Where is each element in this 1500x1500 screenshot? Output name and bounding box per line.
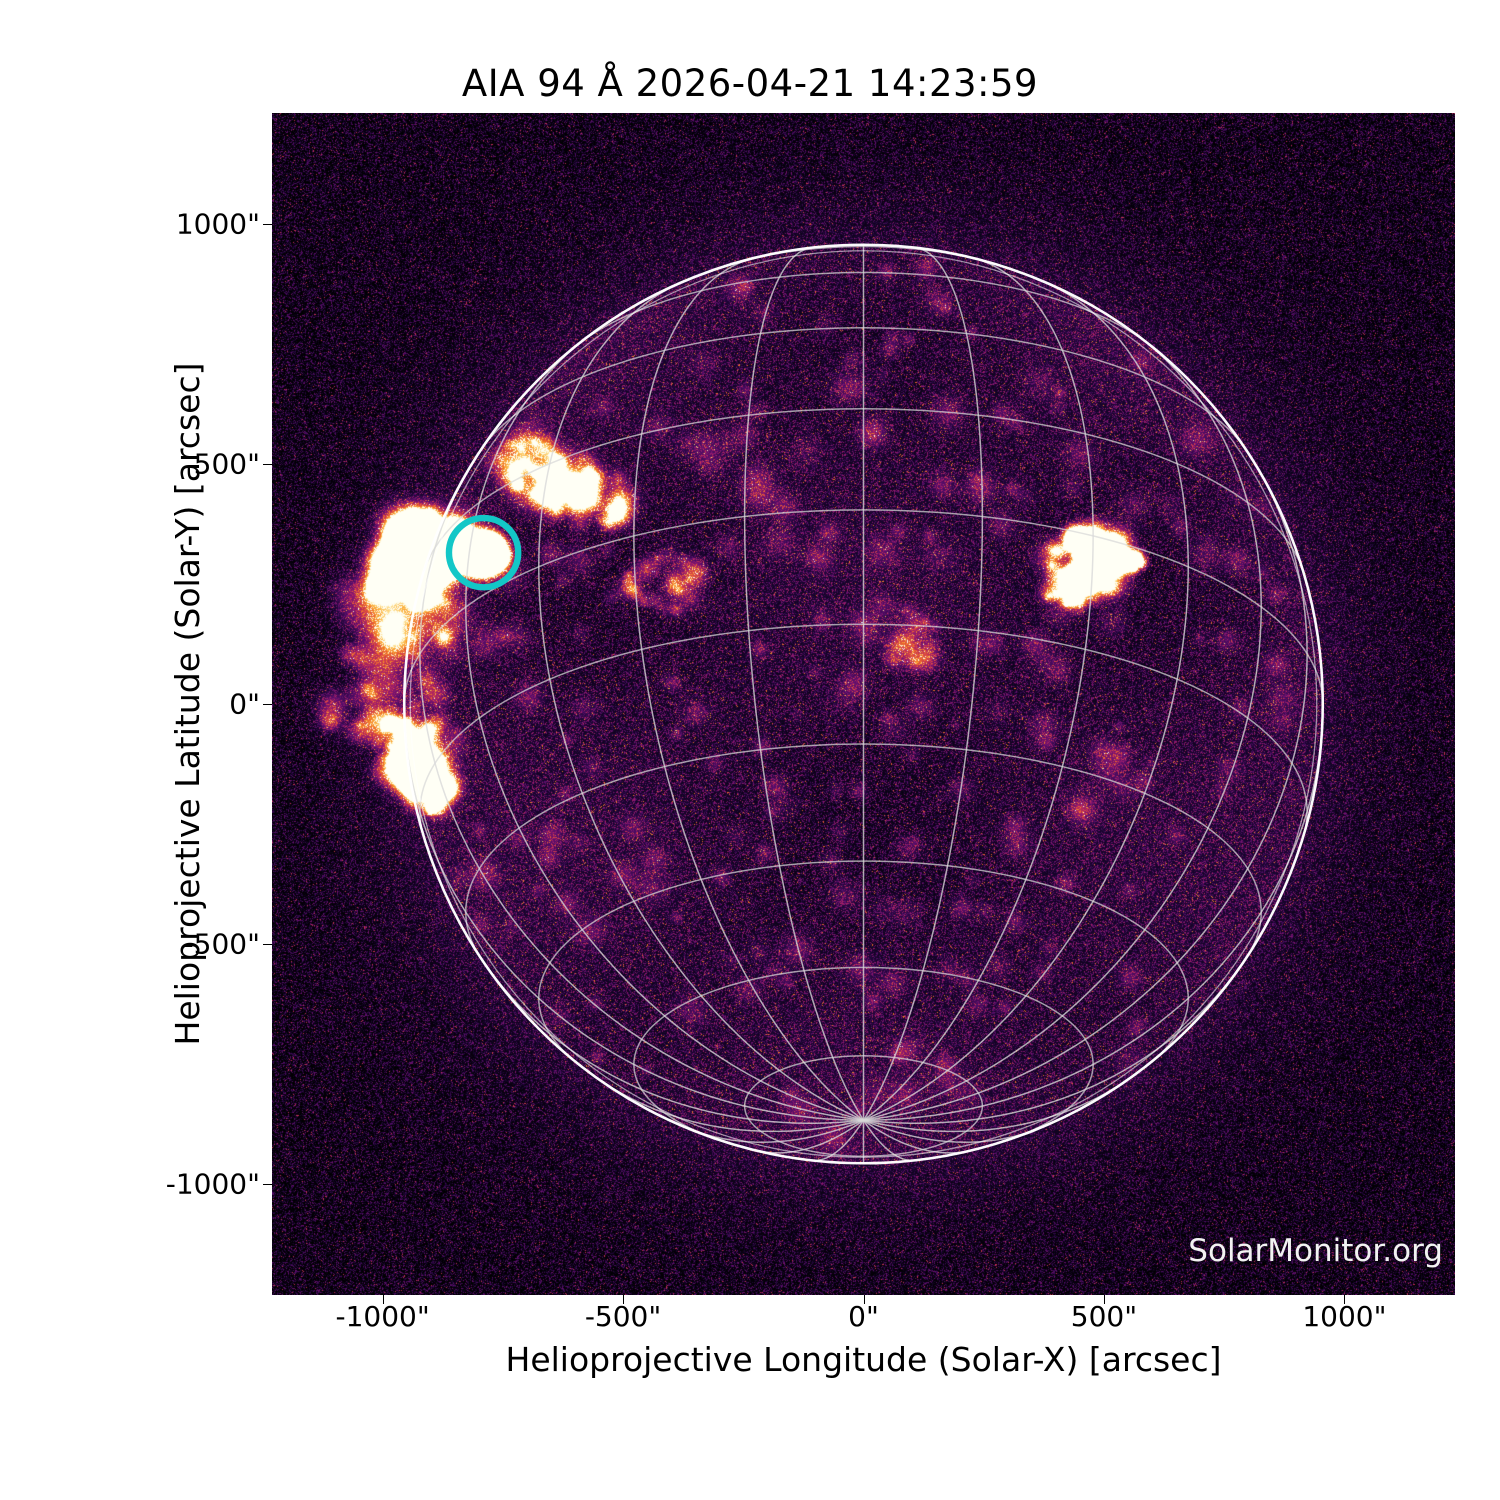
grid-meridian xyxy=(864,956,1248,1124)
grid-meridian xyxy=(864,335,1262,1120)
y-tick-label: 0" xyxy=(229,688,260,721)
x-axis-label: Helioprojective Longitude (Solar-X) [arc… xyxy=(272,1340,1455,1379)
solarmonitor-watermark: SolarMonitor.org xyxy=(1188,1233,1443,1269)
grid-meridian xyxy=(634,258,864,1120)
grid-meridian xyxy=(420,461,864,1120)
figure-title: AIA 94 Å 2026-04-21 14:23:59 xyxy=(0,62,1500,105)
grid-and-marker-overlay xyxy=(272,113,1455,1295)
y-tick-mark xyxy=(263,224,272,225)
grid-meridian xyxy=(864,283,1189,1120)
y-tick-mark xyxy=(263,464,272,465)
x-tick-label: 500" xyxy=(1071,1300,1137,1333)
solar-image-plot-area: SolarMonitor.org xyxy=(272,113,1455,1295)
grid-meridian xyxy=(539,283,864,1120)
y-tick-mark xyxy=(263,1184,272,1185)
solar-image-figure: AIA 94 Å 2026-04-21 14:23:59 SolarMonito… xyxy=(0,0,1500,1500)
x-tick-label: -1000" xyxy=(335,1300,429,1333)
x-tick-label: -500" xyxy=(585,1300,661,1333)
grid-meridian xyxy=(745,248,864,1120)
y-tick-mark xyxy=(263,704,272,705)
grid-meridian xyxy=(479,956,863,1124)
grid-meridian xyxy=(466,335,864,1120)
x-tick-label: 0" xyxy=(848,1300,879,1333)
grid-meridian xyxy=(864,248,983,1120)
grid-meridian xyxy=(864,258,1094,1120)
y-tick-mark xyxy=(263,944,272,945)
y-axis-label: Helioprojective Latitude (Solar-Y) [arcs… xyxy=(168,113,207,1295)
x-tick-label: 1000" xyxy=(1302,1300,1386,1333)
active-region-circle-marker[interactable] xyxy=(449,518,518,587)
grid-meridian xyxy=(864,461,1308,1120)
